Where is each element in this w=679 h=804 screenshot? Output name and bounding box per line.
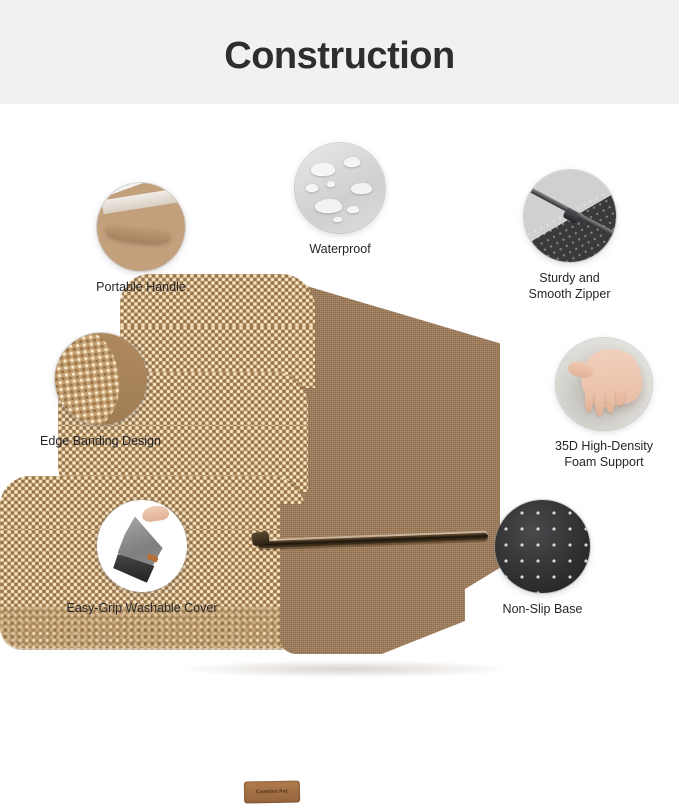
callout-non-slip-base[interactable]: Non-Slip Base (466, 500, 619, 618)
removable-cover-icon (97, 500, 187, 592)
callout-portable-handle[interactable]: Portable Handle (61, 183, 221, 296)
page-header: Construction (0, 0, 679, 104)
callout-label-non-slip-base: Non-Slip Base (466, 602, 619, 618)
page-title: Construction (0, 33, 679, 79)
callout-sturdy-smooth-zipper[interactable]: Sturdy and Smooth Zipper (492, 170, 647, 302)
handle-closeup-icon (97, 183, 185, 271)
zipper-closeup-icon (524, 170, 616, 262)
edge-banding-icon (55, 333, 147, 425)
hand-pressing-foam-icon (556, 338, 652, 430)
product-image: Comfort Pet (0, 254, 510, 694)
callout-foam-support[interactable]: 35D High-Density Foam Support (528, 338, 679, 470)
anti-slip-dots-icon (495, 500, 590, 593)
product-ground-shadow (175, 660, 515, 678)
product-side-lower (280, 504, 465, 654)
water-droplets-icon (295, 143, 385, 233)
callout-label-portable-handle: Portable Handle (61, 280, 221, 296)
brand-patch: Comfort Pet (244, 781, 300, 804)
callout-edge-banding-design[interactable]: Edge Banding Design (13, 333, 188, 450)
callout-easy-grip-washable-cover[interactable]: Easy-Grip Washable Cover (53, 500, 231, 617)
callout-label-foam-support: 35D High-Density Foam Support (528, 439, 679, 470)
callout-waterproof[interactable]: Waterproof (265, 143, 415, 258)
callout-label-easy-grip-washable-cover: Easy-Grip Washable Cover (53, 601, 231, 617)
callout-label-sturdy-smooth-zipper: Sturdy and Smooth Zipper (492, 271, 647, 302)
callout-label-edge-banding-design: Edge Banding Design (13, 434, 188, 450)
infographic-stage: Comfort Pet Portable Handle Waterproof (0, 104, 679, 627)
callout-label-waterproof: Waterproof (265, 242, 415, 258)
